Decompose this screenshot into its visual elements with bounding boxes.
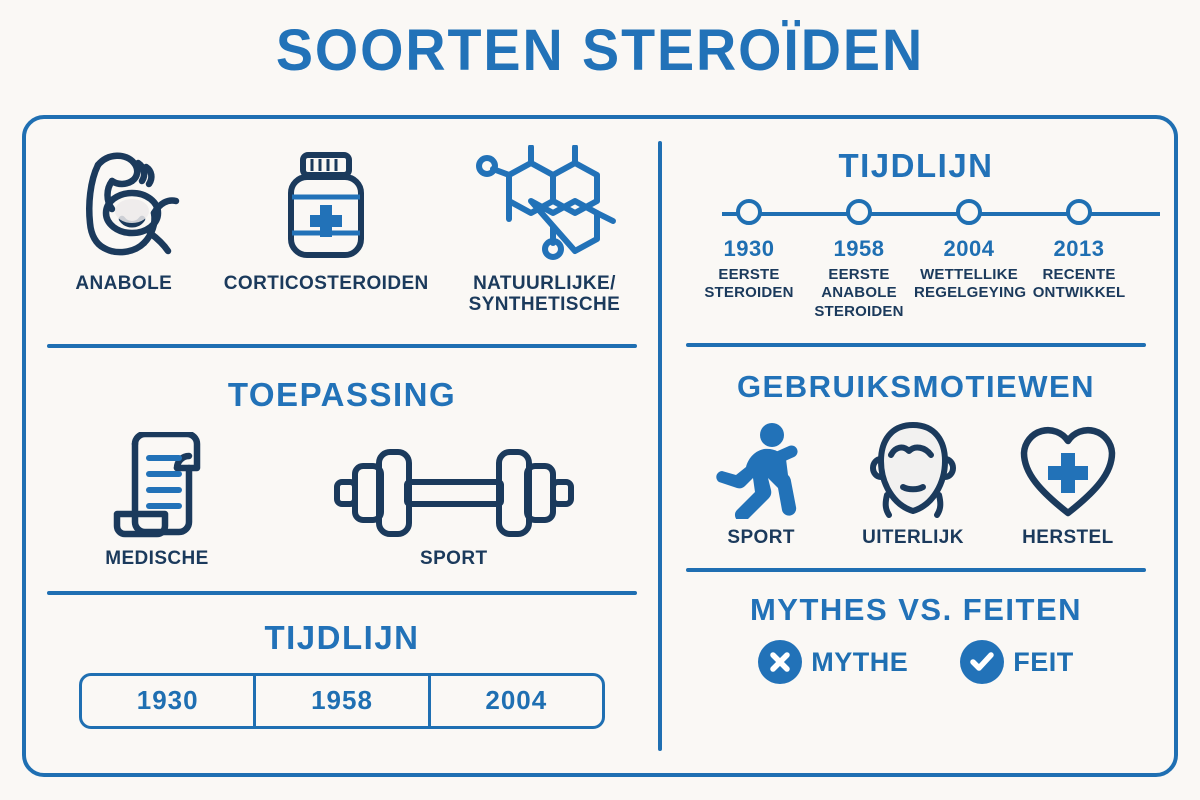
timeline-year: 2013 xyxy=(1024,236,1134,262)
page-title: SOORTEN STEROÏDEN xyxy=(24,0,1176,80)
pill-bottle-icon xyxy=(276,145,376,265)
heart-plus-icon xyxy=(1018,419,1118,519)
application-sport[interactable]: SPORT xyxy=(329,430,579,569)
dumbbell-icon xyxy=(329,430,579,540)
fact-label: FEIT xyxy=(1013,647,1074,678)
motive-herstel[interactable]: HERSTEL xyxy=(1018,419,1118,548)
timeline-description: WETTELLIKE REGELGEYING xyxy=(914,266,1024,303)
timeline-dot[interactable] xyxy=(846,199,872,225)
type-corticosteroiden[interactable]: CORTICOSTEROIDEN xyxy=(224,145,429,294)
type-corticosteroiden-label: CORTICOSTEROIDEN xyxy=(224,273,429,294)
toepassing-heading: TOEPASSING xyxy=(40,376,644,414)
x-circle-icon xyxy=(758,640,802,684)
prescription-scroll-icon xyxy=(109,430,205,540)
timeline-dot[interactable] xyxy=(1066,199,1092,225)
year-cell[interactable]: 1930 xyxy=(82,676,256,726)
application-row: MEDISCHE xyxy=(40,430,644,569)
myth-item[interactable]: MYTHE xyxy=(758,640,908,684)
gebruiksmotiewen-heading: GEBRUIKSMOTIEWEN xyxy=(672,369,1160,405)
timeline-description: EERSTE ANABOLE STEROIDEN xyxy=(804,266,914,321)
type-natuurlijke-label: NATUURLIJKE/ SYNTHETISCHE xyxy=(469,273,621,316)
timeline-year-table: 1930 1958 2004 xyxy=(79,673,605,729)
molecule-icon xyxy=(469,145,619,265)
myths-row: MYTHE FEIT xyxy=(672,640,1160,684)
timeline-description: RECENTE ONTWIKKEL xyxy=(1024,266,1134,303)
bicep-muscle-icon xyxy=(64,145,184,265)
running-person-icon xyxy=(714,419,808,519)
application-medische[interactable]: MEDISCHE xyxy=(105,430,209,569)
motive-uiterlijk[interactable]: UITERLIJK xyxy=(862,419,964,548)
timeline-description: EERSTE STEROIDEN xyxy=(694,266,804,303)
year-cell[interactable]: 1958 xyxy=(256,676,430,726)
myth-label: MYTHE xyxy=(811,647,908,678)
face-icon xyxy=(865,419,961,519)
motives-row: SPORT UITERLIJK xyxy=(672,419,1160,548)
right-column: TIJDLIJN 1930 EERSTE STEROIDEN xyxy=(658,119,1174,773)
timeline-event[interactable]: 2004 WETTELLIKE REGELGEYING xyxy=(914,236,1024,321)
motive-uiterlijk-label: UITERLIJK xyxy=(862,527,964,548)
fact-item[interactable]: FEIT xyxy=(960,640,1074,684)
motive-herstel-label: HERSTEL xyxy=(1022,527,1113,548)
infographic-page: SOORTEN STEROÏDEN xyxy=(0,0,1200,800)
left-divider-2 xyxy=(47,591,637,595)
check-circle-icon xyxy=(960,640,1004,684)
tijdlijn-heading: TIJDLIJN xyxy=(672,147,1160,185)
type-anabole[interactable]: ANABOLE xyxy=(64,145,184,294)
motive-sport-label: SPORT xyxy=(727,527,794,548)
timeline: 1930 EERSTE STEROIDEN 1958 EERSTE ANABOL… xyxy=(672,199,1160,321)
mythes-heading: MYTHES VS. FEITEN xyxy=(672,592,1160,628)
timeline-year: 1958 xyxy=(804,236,914,262)
timeline-event[interactable]: 1930 EERSTE STEROIDEN xyxy=(694,236,804,321)
timeline-dot[interactable] xyxy=(956,199,982,225)
timeline-event[interactable]: 1958 EERSTE ANABOLE STEROIDEN xyxy=(804,236,914,321)
left-divider-1 xyxy=(47,344,637,348)
timeline-dot[interactable] xyxy=(736,199,762,225)
right-divider-2 xyxy=(686,568,1146,572)
steroid-types-row: ANABOLE xyxy=(40,145,644,316)
timeline-year: 2004 xyxy=(914,236,1024,262)
application-medische-label: MEDISCHE xyxy=(105,548,209,569)
content-panel: ANABOLE xyxy=(22,115,1178,777)
type-natuurlijke-synthetische[interactable]: NATUURLIJKE/ SYNTHETISCHE xyxy=(469,145,621,316)
timeline-year: 1930 xyxy=(694,236,804,262)
application-sport-label: SPORT xyxy=(420,548,487,569)
timeline-labels: 1930 EERSTE STEROIDEN 1958 EERSTE ANABOL… xyxy=(694,236,1160,321)
right-divider-1 xyxy=(686,343,1146,347)
timeline-event[interactable]: 2013 RECENTE ONTWIKKEL xyxy=(1024,236,1134,321)
motive-sport[interactable]: SPORT xyxy=(714,419,808,548)
timeline-track xyxy=(694,199,1160,229)
type-anabole-label: ANABOLE xyxy=(75,273,172,294)
tijdlijn-table-heading: TIJDLIJN xyxy=(40,619,644,657)
year-cell[interactable]: 2004 xyxy=(431,676,602,726)
left-column: ANABOLE xyxy=(26,119,658,773)
